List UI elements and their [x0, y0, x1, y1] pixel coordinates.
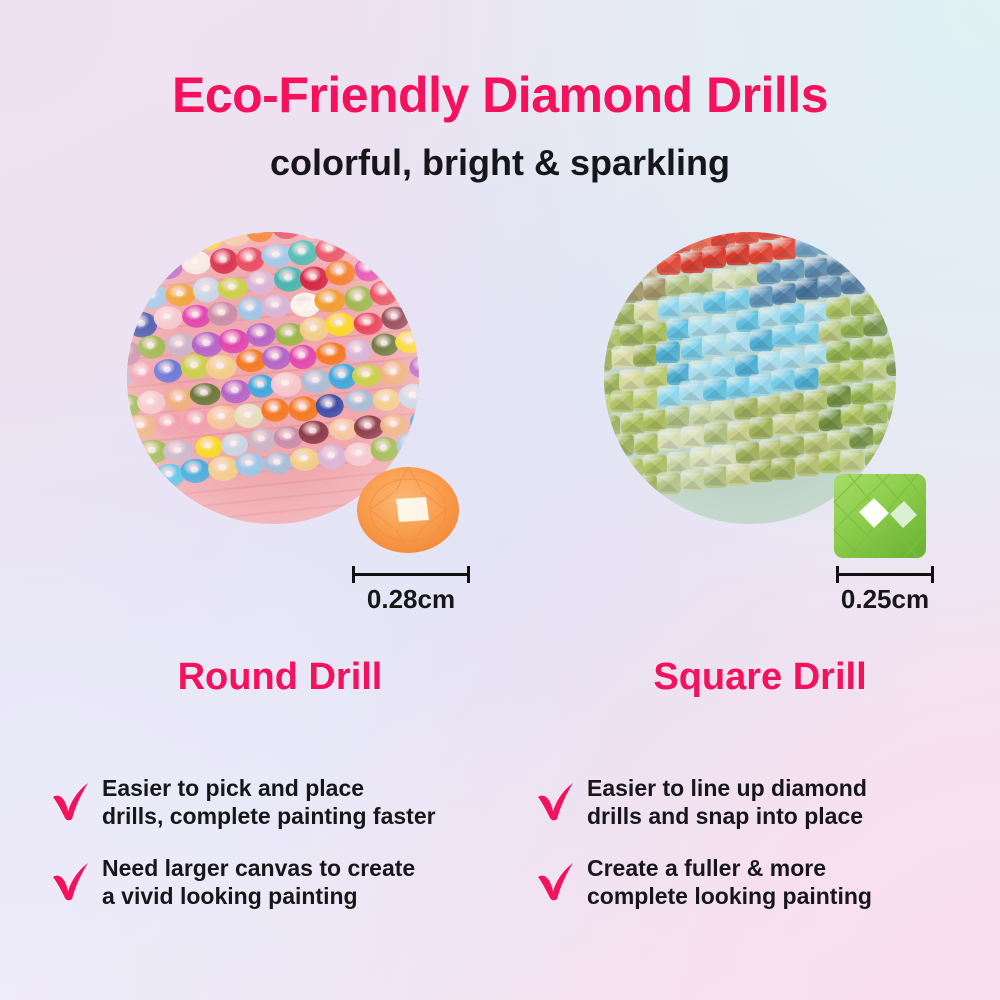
check-icon: [48, 776, 96, 824]
list-item-label: Need larger canvas to create a vivid loo…: [102, 852, 415, 910]
square-drill-dimension: 0.25cm: [836, 566, 934, 620]
list-item-label: Easier to pick and place drills, complet…: [102, 772, 436, 830]
check-icon: [533, 776, 581, 824]
list-item: Easier to line up diamond drills and sna…: [533, 772, 998, 830]
dimension-label: 0.25cm: [841, 584, 929, 615]
check-icon: [48, 856, 96, 904]
round-drill-bead-icon: [356, 466, 460, 554]
dimension-bar: [352, 573, 470, 576]
dimension-rule: [352, 566, 470, 582]
page-title: Eco-Friendly Diamond Drills: [0, 66, 1000, 124]
list-item-label: Create a fuller & more complete looking …: [587, 852, 872, 910]
round-drill-dimension: 0.28cm: [352, 566, 470, 620]
list-item: Easier to pick and place drills, complet…: [48, 772, 513, 830]
list-item-label: Easier to line up diamond drills and sna…: [587, 772, 867, 830]
dimension-cap-right: [931, 566, 934, 583]
square-drill-bead-icon: [832, 472, 928, 560]
page-subtitle: colorful, bright & sparkling: [0, 142, 1000, 184]
list-item: Need larger canvas to create a vivid loo…: [48, 852, 513, 910]
round-drill-heading: Round Drill: [120, 656, 440, 699]
square-drill-feature-list: Easier to line up diamond drills and sna…: [533, 772, 998, 932]
dimension-bar: [836, 573, 934, 576]
round-drill-feature-list: Easier to pick and place drills, complet…: [48, 772, 513, 932]
dimension-label: 0.28cm: [367, 584, 455, 615]
dimension-cap-right: [467, 566, 470, 583]
square-drill-heading: Square Drill: [600, 656, 920, 699]
infographic-poster: Eco-Friendly Diamond Drills colorful, br…: [0, 0, 1000, 1000]
dimension-rule: [836, 566, 934, 582]
list-item: Create a fuller & more complete looking …: [533, 852, 998, 910]
check-icon: [533, 856, 581, 904]
